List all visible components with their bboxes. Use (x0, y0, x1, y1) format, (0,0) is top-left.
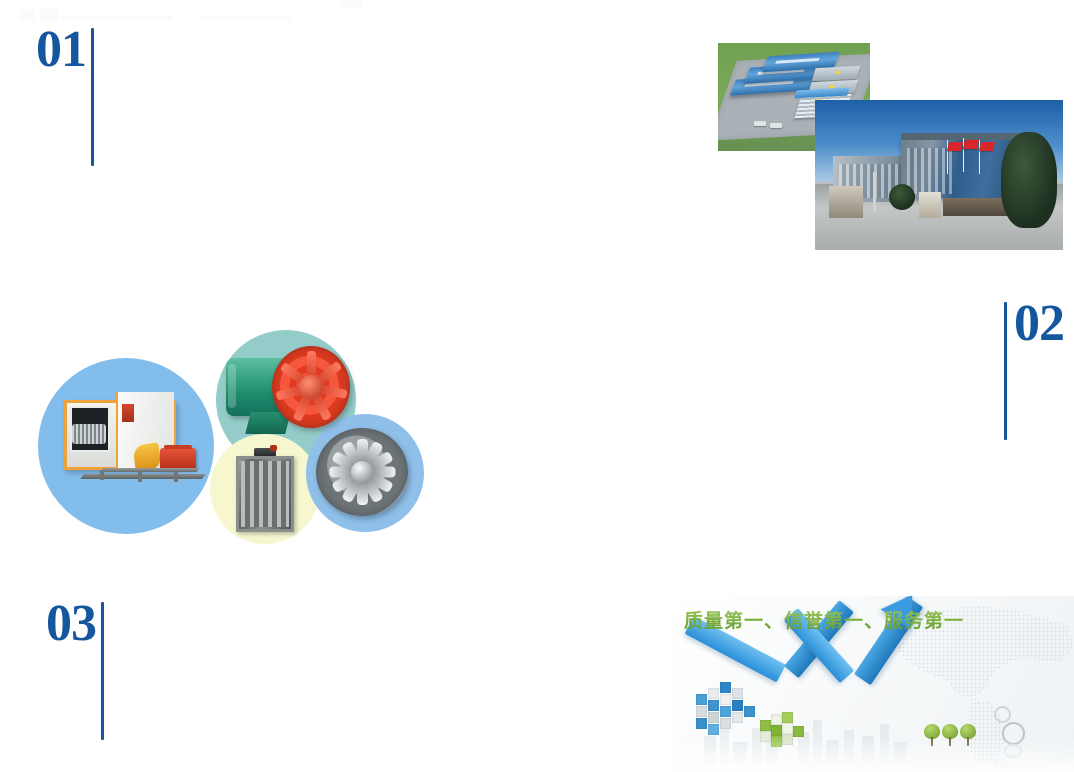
product-image-air-damper (236, 448, 298, 536)
flag-3 (979, 142, 995, 151)
render-marker-1 (836, 71, 840, 74)
office-lamp-post (873, 172, 876, 212)
section-number-03-rule (101, 602, 104, 740)
cabinet-fan-control-box (122, 404, 134, 422)
office-guard-kiosk (829, 186, 863, 218)
cabinet-fan-rail-back (101, 468, 200, 472)
air-damper-blades (241, 461, 289, 527)
page-canvas: 01 (0, 0, 1074, 772)
section-number-02-label: 02 (1014, 298, 1064, 350)
section-number-01-rule (91, 28, 94, 166)
impeller-body (316, 428, 408, 516)
artifact-block-1 (20, 10, 34, 21)
cabinet-fan-wheel (72, 424, 106, 444)
cabinet-fan-motor (160, 448, 196, 470)
axial-fan-hub (299, 375, 323, 399)
office-pine-tree (1001, 132, 1057, 228)
section-number-03-label: 03 (46, 598, 96, 650)
artifact-bar-1 (62, 16, 172, 20)
banner-slogan: 质量第一、信誉第一、服务第一 (684, 606, 964, 633)
cabinet-fan-leg-3 (174, 472, 178, 482)
office-shrub (889, 184, 915, 210)
impeller-hub-cap (351, 461, 373, 483)
render-marker-2 (830, 85, 834, 88)
section-number-02-rule (1004, 302, 1007, 440)
section-number-01-label: 01 (36, 24, 86, 76)
banner-floor-reflection (672, 738, 1074, 772)
clipped-header-artifact (10, 0, 370, 22)
render-truck-1 (754, 121, 766, 126)
artifact-bar-2 (200, 16, 290, 20)
axial-fan-impeller-ring (272, 346, 350, 428)
product-circle-cluster (30, 330, 430, 555)
render-truck-2 (770, 123, 782, 128)
cabinet-fan-leg-2 (138, 472, 142, 482)
flag-1 (947, 142, 963, 151)
cabinet-fan-leg-1 (100, 470, 104, 480)
artifact-block-3 (340, 0, 362, 9)
decor-ring-small (994, 706, 1011, 723)
product-image-cabinet-fan (60, 392, 210, 500)
office-building-photo (815, 100, 1063, 250)
section-number-01: 01 (36, 24, 94, 166)
product-image-metal-impeller (316, 428, 420, 520)
section-number-03: 03 (46, 598, 104, 740)
growth-banner: 质量第一、信誉第一、服务第一 (672, 596, 1074, 772)
section-number-02: 02 (1004, 298, 1064, 440)
office-gate-pillar (919, 192, 941, 218)
flag-2 (963, 140, 979, 149)
